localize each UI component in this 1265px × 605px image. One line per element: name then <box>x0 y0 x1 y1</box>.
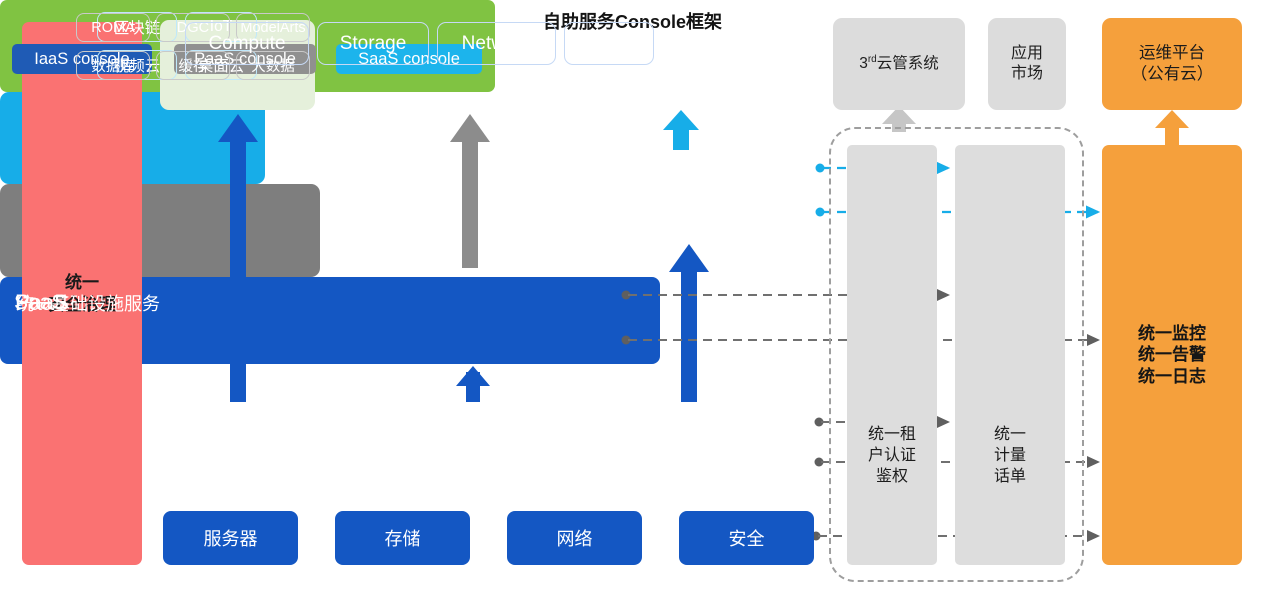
ops-main-label: 统一监控统一告警统一日志 <box>1138 323 1206 387</box>
arrow-infra-to-api-gateway <box>218 114 258 402</box>
infra-chip-storage[interactable]: Storage <box>317 22 429 65</box>
architecture-diagram: 统一安全治理 API网关 自助服务Console框架 IaaS console … <box>0 0 1265 605</box>
ops-platform-main-pillar[interactable]: 统一监控统一告警统一日志 <box>1102 145 1242 565</box>
app-market-box[interactable]: 应用市场 <box>988 18 1066 110</box>
resource-box-network[interactable]: 网络 <box>507 511 642 565</box>
shared-auth-label: 统一租户认证鉴权 <box>847 425 937 487</box>
third-party-label: 3rd云管系统 <box>859 54 939 74</box>
third-party-ordinal-suffix: rd <box>868 54 877 65</box>
app-market-label: 应用市场 <box>1011 44 1043 84</box>
arrow-paas-to-console <box>450 114 490 268</box>
infra-chip-cce[interactable]: CCE <box>564 22 654 65</box>
infra-chip-network[interactable]: Network <box>437 22 556 65</box>
infra-chip-compute[interactable]: Compute <box>185 22 309 65</box>
ops-public-label: 运维平台（公有云） <box>1131 43 1214 84</box>
ops-platform-public-cloud-box[interactable]: 运维平台（公有云） <box>1102 18 1242 110</box>
arrow-ops-to-public-cloud <box>1155 110 1189 146</box>
third-party-cloud-management-box[interactable]: 3rd云管系统 <box>833 18 965 110</box>
shared-service-column-metering[interactable]: 统一计量话单 <box>955 145 1065 565</box>
resource-box-security[interactable]: 安全 <box>679 511 814 565</box>
resource-box-storage[interactable]: 存储 <box>335 511 470 565</box>
arrow-infra-to-paas <box>456 366 490 402</box>
resource-box-server[interactable]: 服务器 <box>163 511 298 565</box>
arrow-infra-to-saas <box>669 244 709 402</box>
shared-service-column-auth[interactable]: 统一租户认证鉴权 <box>847 145 937 565</box>
arrow-saas-to-console <box>663 110 699 150</box>
infrastructure-label: 统一基础设施服务 <box>16 0 160 605</box>
shared-metering-label: 统一计量话单 <box>955 425 1065 487</box>
